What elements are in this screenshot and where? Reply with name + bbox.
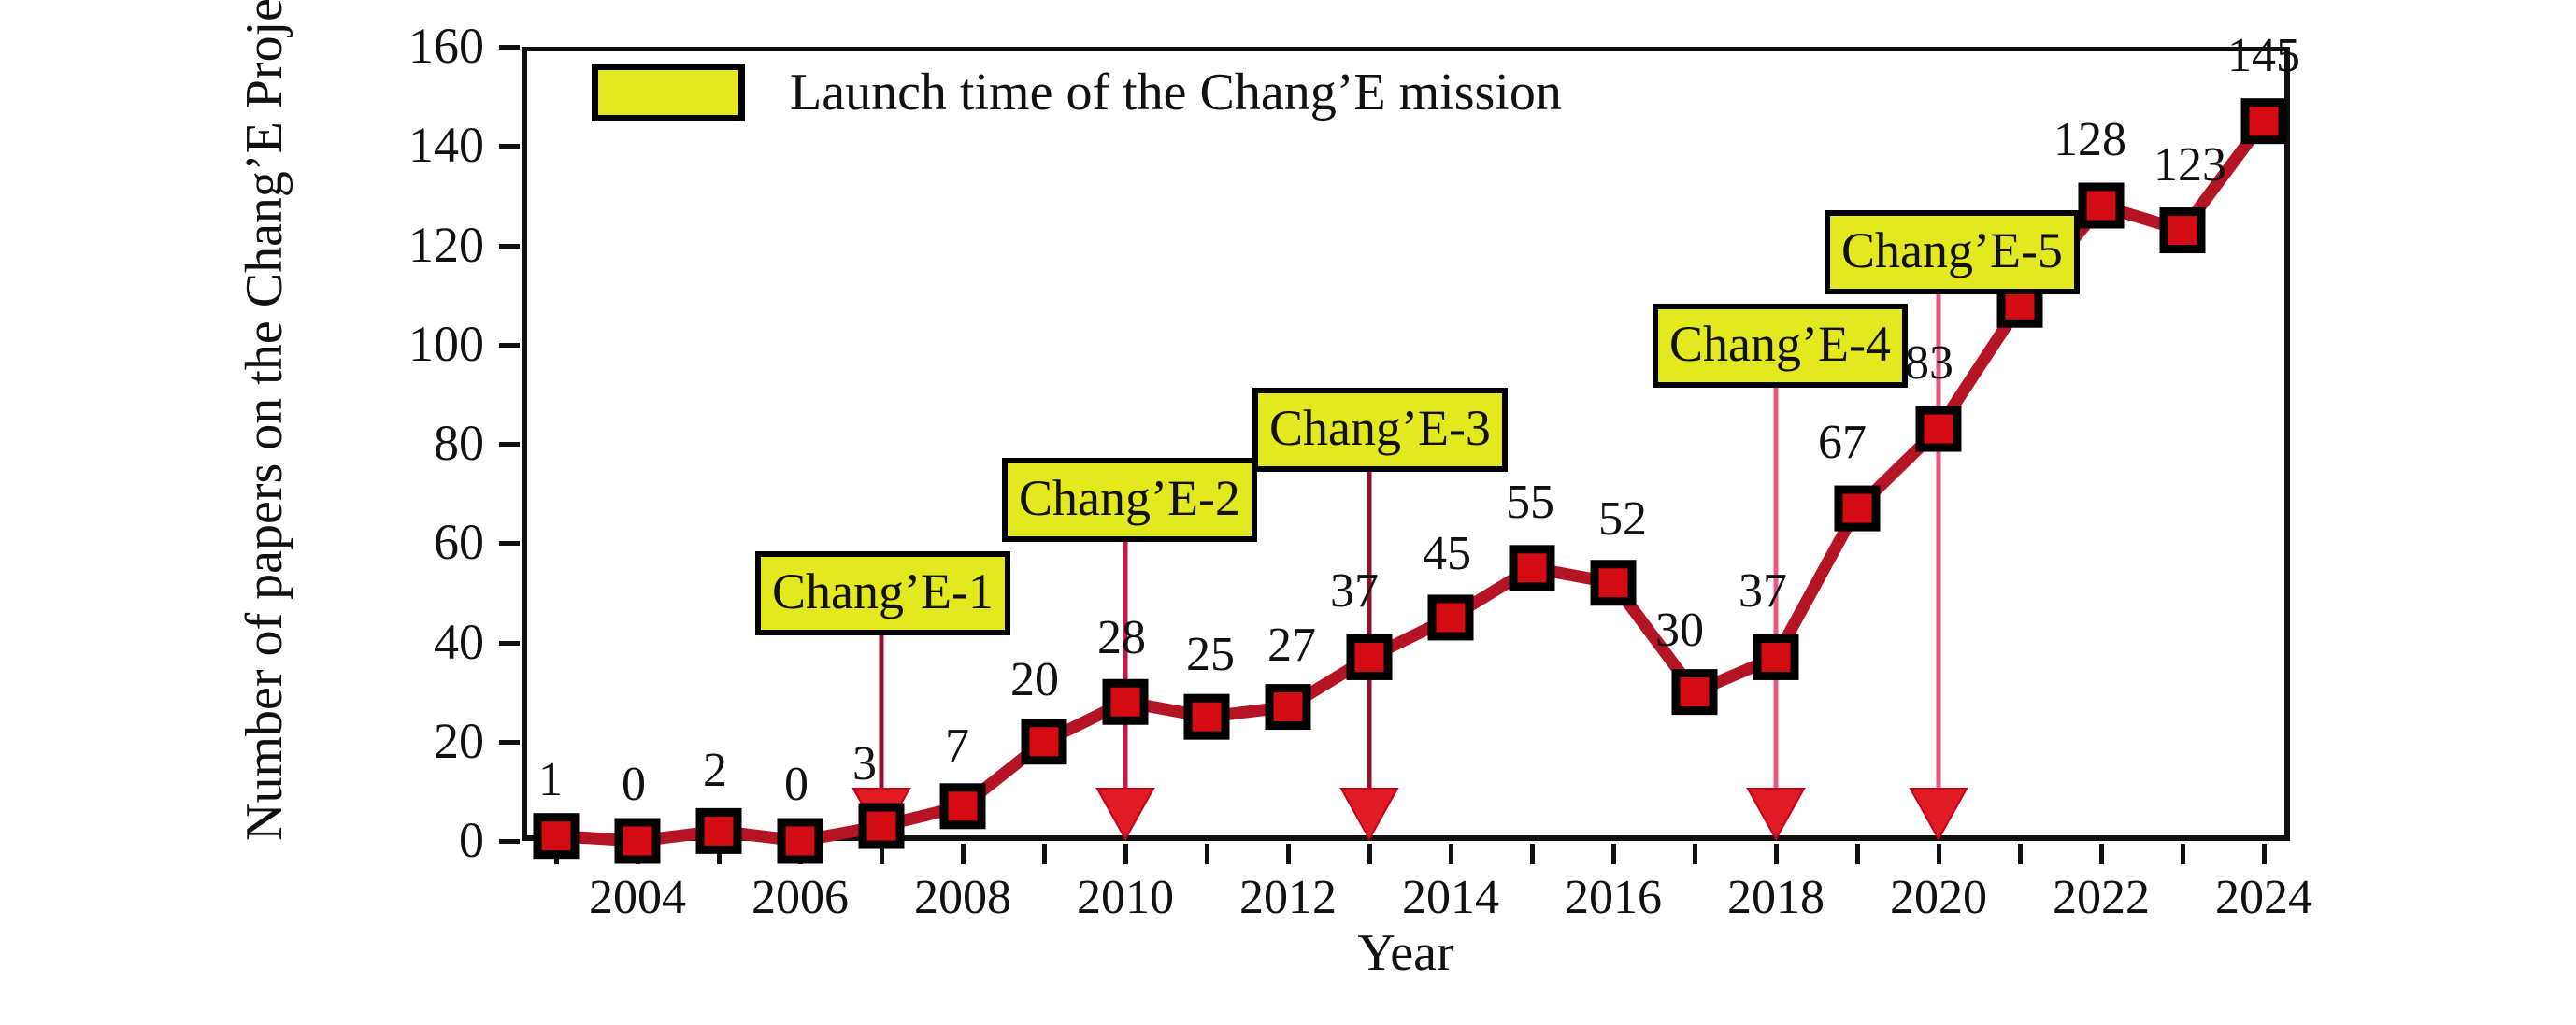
- data-point-marker[interactable]: [1188, 698, 1225, 735]
- data-point-value-label: 3: [852, 740, 877, 789]
- data-point-value-label: 7: [945, 722, 969, 771]
- data-point-value-label: 67: [1818, 419, 1867, 467]
- data-point-value-label: 25: [1186, 631, 1235, 679]
- data-point-marker[interactable]: [1351, 638, 1388, 676]
- data-point-marker[interactable]: [944, 788, 981, 825]
- data-point-marker[interactable]: [1839, 490, 1876, 527]
- data-point-value-label: 20: [1010, 656, 1059, 705]
- mission-callout-chang-e-3[interactable]: Chang’E-3: [1252, 388, 1508, 472]
- data-point-value-label: 27: [1267, 621, 1316, 670]
- chart-canvas: Number of papers on the Chang’E Project …: [0, 0, 2576, 1025]
- annotation-arrow-head-icon: [1097, 789, 1153, 839]
- data-point-value-label: 28: [1097, 614, 1146, 662]
- mission-callout-chang-e-2[interactable]: Chang’E-2: [1002, 458, 1257, 542]
- data-point-value-label: 52: [1598, 495, 1647, 544]
- data-point-value-label: 123: [2154, 141, 2226, 190]
- data-point-marker[interactable]: [700, 812, 737, 849]
- data-point-value-label: 0: [622, 761, 646, 809]
- data-point-value-label: 128: [2054, 116, 2126, 164]
- data-point-marker[interactable]: [1595, 564, 1632, 602]
- data-point-marker[interactable]: [1432, 599, 1469, 636]
- data-point-value-label: 30: [1655, 606, 1704, 655]
- legend-swatch-icon: [592, 64, 745, 121]
- legend: Launch time of the Chang’E mission: [592, 64, 1562, 121]
- annotation-arrow-head-icon: [1748, 789, 1804, 839]
- data-point-marker[interactable]: [2164, 212, 2201, 249]
- data-point-value-label: 0: [784, 761, 809, 809]
- data-point-value-label: 37: [1330, 567, 1379, 616]
- annotation-arrow-head-icon: [1911, 789, 1967, 839]
- data-point-marker[interactable]: [1107, 683, 1144, 720]
- data-point-marker[interactable]: [2082, 187, 2120, 224]
- data-point-value-label: 83: [1905, 339, 1953, 388]
- data-point-marker[interactable]: [1676, 674, 1713, 711]
- data-point-value-label: 1: [538, 756, 563, 804]
- data-point-value-label: 55: [1506, 478, 1554, 527]
- data-point-value-label: 145: [2227, 32, 2300, 80]
- data-point-marker[interactable]: [619, 822, 656, 860]
- data-point-marker[interactable]: [781, 822, 819, 860]
- data-point-marker[interactable]: [2245, 103, 2283, 140]
- data-point-marker[interactable]: [537, 818, 575, 855]
- mission-callout-chang-e-1[interactable]: Chang’E-1: [755, 551, 1010, 635]
- data-point-marker[interactable]: [1269, 689, 1307, 726]
- data-point-marker[interactable]: [1513, 549, 1551, 587]
- data-point-value-label: 45: [1423, 530, 1471, 578]
- data-point-marker[interactable]: [1757, 638, 1795, 676]
- annotation-arrow-head-icon: [1341, 789, 1397, 839]
- legend-label: Launch time of the Chang’E mission: [790, 66, 1562, 119]
- mission-callout-chang-e-4[interactable]: Chang’E-4: [1653, 304, 1908, 388]
- data-point-marker[interactable]: [1920, 410, 1957, 448]
- data-point-marker[interactable]: [1025, 723, 1063, 761]
- data-point-value-label: 2: [703, 747, 727, 795]
- data-point-marker[interactable]: [863, 807, 900, 845]
- data-point-value-label: 37: [1739, 567, 1787, 616]
- mission-callout-chang-e-5[interactable]: Chang’E-5: [1825, 210, 2080, 294]
